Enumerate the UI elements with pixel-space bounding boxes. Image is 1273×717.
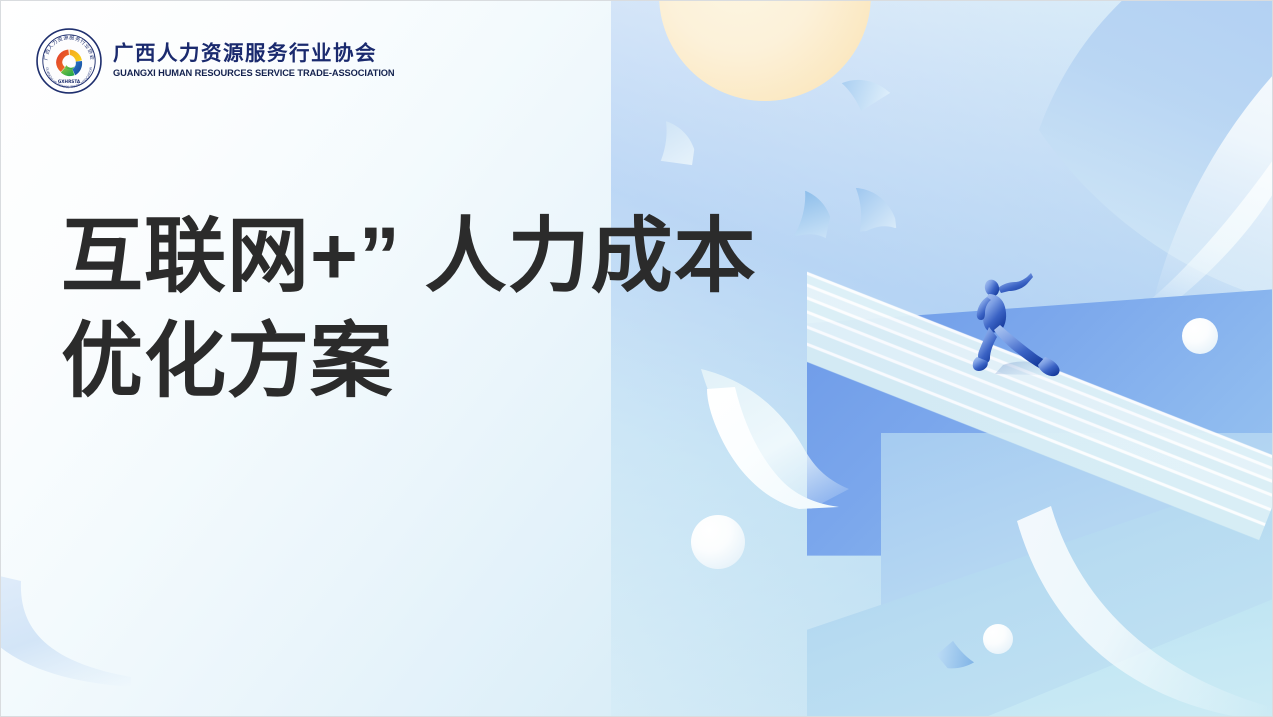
floating-leaf-1 (658, 121, 697, 165)
svg-text:GXHRSTA: GXHRSTA (58, 79, 81, 84)
association-name-en: GUANGXI HUMAN RESOURCES SERVICE TRADE-AS… (113, 66, 395, 80)
page-title-line-2: 优化方案 (61, 310, 881, 415)
association-name-block: 广西人力资源服务行业协会 GUANGXI HUMAN RESOURCES SER… (113, 42, 397, 80)
sphere-3 (983, 624, 1013, 654)
association-emblem-icon: 广西人力资源服务行业协会 GXHRSTA GUANGXI HR SERVICE … (35, 27, 103, 95)
association-logo: 广西人力资源服务行业协会 GXHRSTA GUANGXI HR SERVICE … (35, 27, 397, 95)
runner-silhouette (965, 273, 1075, 378)
sphere-1 (691, 515, 745, 569)
page-title: 互联网+” 人力成本 优化方案 (61, 205, 881, 415)
association-name-cn: 广西人力资源服务行业协会 (113, 42, 397, 66)
sphere-2 (1182, 318, 1218, 354)
page-title-line-1: 互联网+” 人力成本 (61, 205, 881, 310)
title-slide: 广西人力资源服务行业协会 GXHRSTA GUANGXI HR SERVICE … (0, 0, 1273, 717)
